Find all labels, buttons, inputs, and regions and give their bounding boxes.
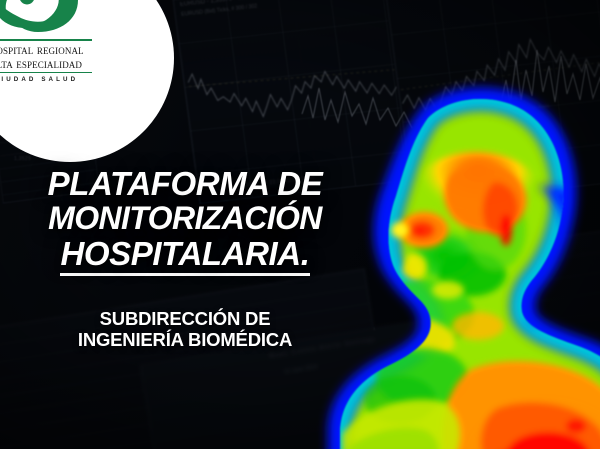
hospital-swoosh-figure-icon (0, 0, 88, 36)
price-tick-8: 1,3529 (14, 156, 31, 162)
presentation-slide: EURUSD - 1,35379 - 00:00:00 14 giu (EEST… (0, 0, 600, 449)
headline-line-2: MONITORIZACIÓN (16, 201, 354, 236)
subtitle-line-1: SUBDIRECCIÓN DE (30, 308, 340, 329)
logo-group: Hospital Regional Alta Especialidad CIUD… (0, 0, 98, 83)
logo-text-line2: Alta Especialidad (0, 57, 98, 71)
logo-rule-bottom (0, 72, 92, 74)
logo-text-line3: CIUDAD SALUD (0, 76, 98, 83)
logo-rule-top (0, 39, 92, 41)
page-subtitle: SUBDIRECCIÓN DE INGENIERÍA BIOMÉDICA (30, 308, 340, 350)
headline-line-1: PLATAFORMA DE (16, 166, 354, 201)
logo-text-line1: Hospital Regional (0, 43, 98, 57)
headline-line-3: HOSPITALARIA. (60, 236, 309, 276)
page-title: PLATAFORMA DE MONITORIZACIÓN HOSPITALARI… (16, 166, 354, 276)
subtitle-line-2: INGENIERÍA BIOMÉDICA (30, 329, 340, 350)
